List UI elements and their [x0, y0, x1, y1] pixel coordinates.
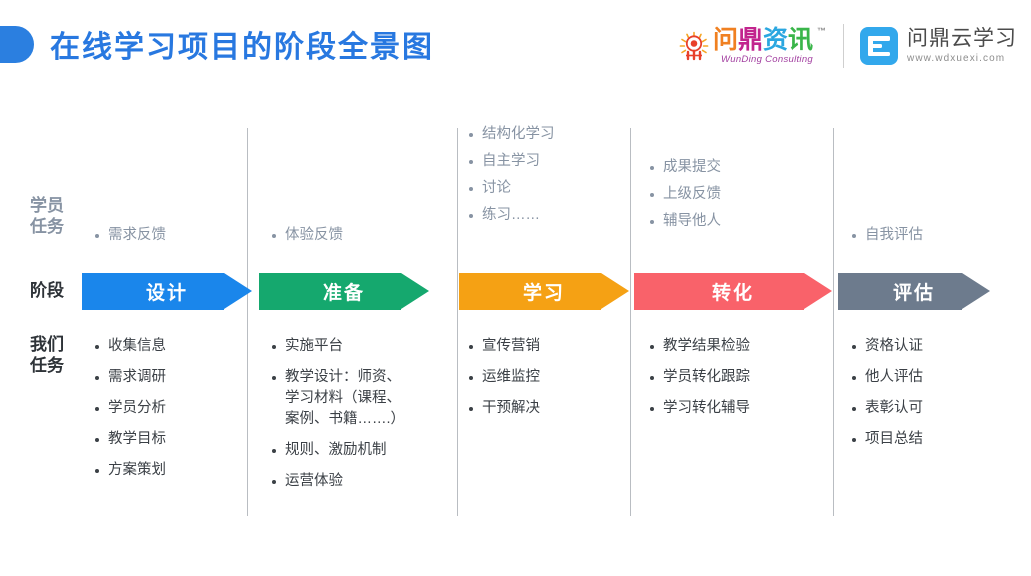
row-label-learner-tasks: 学员 任务	[30, 196, 64, 237]
row-label-stage: 阶段	[30, 281, 64, 302]
list-item: 项目总结	[850, 429, 1000, 450]
stage-arrow-transfer[interactable]: 转化	[634, 273, 832, 310]
list-item: 方案策划	[93, 460, 238, 481]
list-item: 需求调研	[93, 367, 238, 388]
our-tasks-col-2: 实施平台 教学设计：师资、 学习材料（课程、 案例、书籍…….） 规则、激励机制…	[270, 336, 450, 502]
stage-arrow-label: 准备	[323, 278, 365, 305]
list-item: 实施平台	[270, 336, 450, 357]
column-separator-3	[630, 128, 631, 516]
list-item: 资格认证	[850, 336, 1000, 357]
learner-tasks-col-3: 结构化学习 自主学习 讨论 练习……	[467, 124, 617, 232]
stage-arrow-design[interactable]: 设计	[82, 273, 252, 310]
stage-arrow-label: 学习	[523, 278, 565, 305]
list-item: 上级反馈	[648, 184, 808, 205]
our-tasks-col-4: 教学结果检验 学员转化跟踪 学习转化辅导	[648, 336, 823, 429]
list-item: 运维监控	[467, 367, 617, 388]
row-label-our-tasks: 我们 任务	[30, 335, 64, 376]
list-item: 他人评估	[850, 367, 1000, 388]
list-item: 宣传营销	[467, 336, 617, 357]
list-item: 规则、激励机制	[270, 440, 450, 461]
learner-tasks-col-5: 自我评估	[850, 225, 1000, 252]
our-tasks-col-1: 收集信息 需求调研 学员分析 教学目标 方案策划	[93, 336, 238, 491]
list-item: 教学设计：师资、 学习材料（课程、 案例、书籍…….）	[270, 367, 450, 430]
list-item: 学员转化跟踪	[648, 367, 823, 388]
list-item: 教学目标	[93, 429, 238, 450]
learner-tasks-col-4: 成果提交 上级反馈 辅导他人	[648, 157, 808, 238]
list-item: 自我评估	[850, 225, 1000, 246]
stage-arrow-label: 设计	[146, 278, 188, 305]
stage-arrow-learn[interactable]: 学习	[459, 273, 629, 310]
list-item: 学习转化辅导	[648, 398, 823, 419]
column-separator-2	[457, 128, 458, 516]
stage-arrow-prepare[interactable]: 准备	[259, 273, 429, 310]
column-separator-1	[247, 128, 248, 516]
learner-tasks-col-2: 体验反馈	[270, 225, 440, 252]
list-item: 表彰认可	[850, 398, 1000, 419]
stage-panorama-diagram: 学员 任务 阶段 我们 任务 需求反馈 体验反馈 结构化学习 自主学习 讨论 练…	[0, 0, 1031, 576]
list-item: 辅导他人	[648, 211, 808, 232]
stage-arrow-evaluate[interactable]: 评估	[838, 273, 990, 310]
list-item: 干预解决	[467, 398, 617, 419]
list-item: 成果提交	[648, 157, 808, 178]
list-item: 自主学习	[467, 151, 617, 172]
list-item: 讨论	[467, 178, 617, 199]
our-tasks-col-3: 宣传营销 运维监控 干预解决	[467, 336, 617, 429]
learner-tasks-col-1: 需求反馈	[93, 225, 238, 252]
our-tasks-col-5: 资格认证 他人评估 表彰认可 项目总结	[850, 336, 1000, 460]
list-item: 运营体验	[270, 471, 450, 492]
list-item: 学员分析	[93, 398, 238, 419]
list-item: 收集信息	[93, 336, 238, 357]
stage-arrow-label: 评估	[893, 278, 935, 305]
list-item: 练习……	[467, 205, 617, 226]
list-item: 需求反馈	[93, 225, 238, 246]
column-separator-4	[833, 128, 834, 516]
stage-arrow-label: 转化	[712, 278, 754, 305]
list-item: 体验反馈	[270, 225, 440, 246]
list-item: 教学结果检验	[648, 336, 823, 357]
list-item: 结构化学习	[467, 124, 617, 145]
